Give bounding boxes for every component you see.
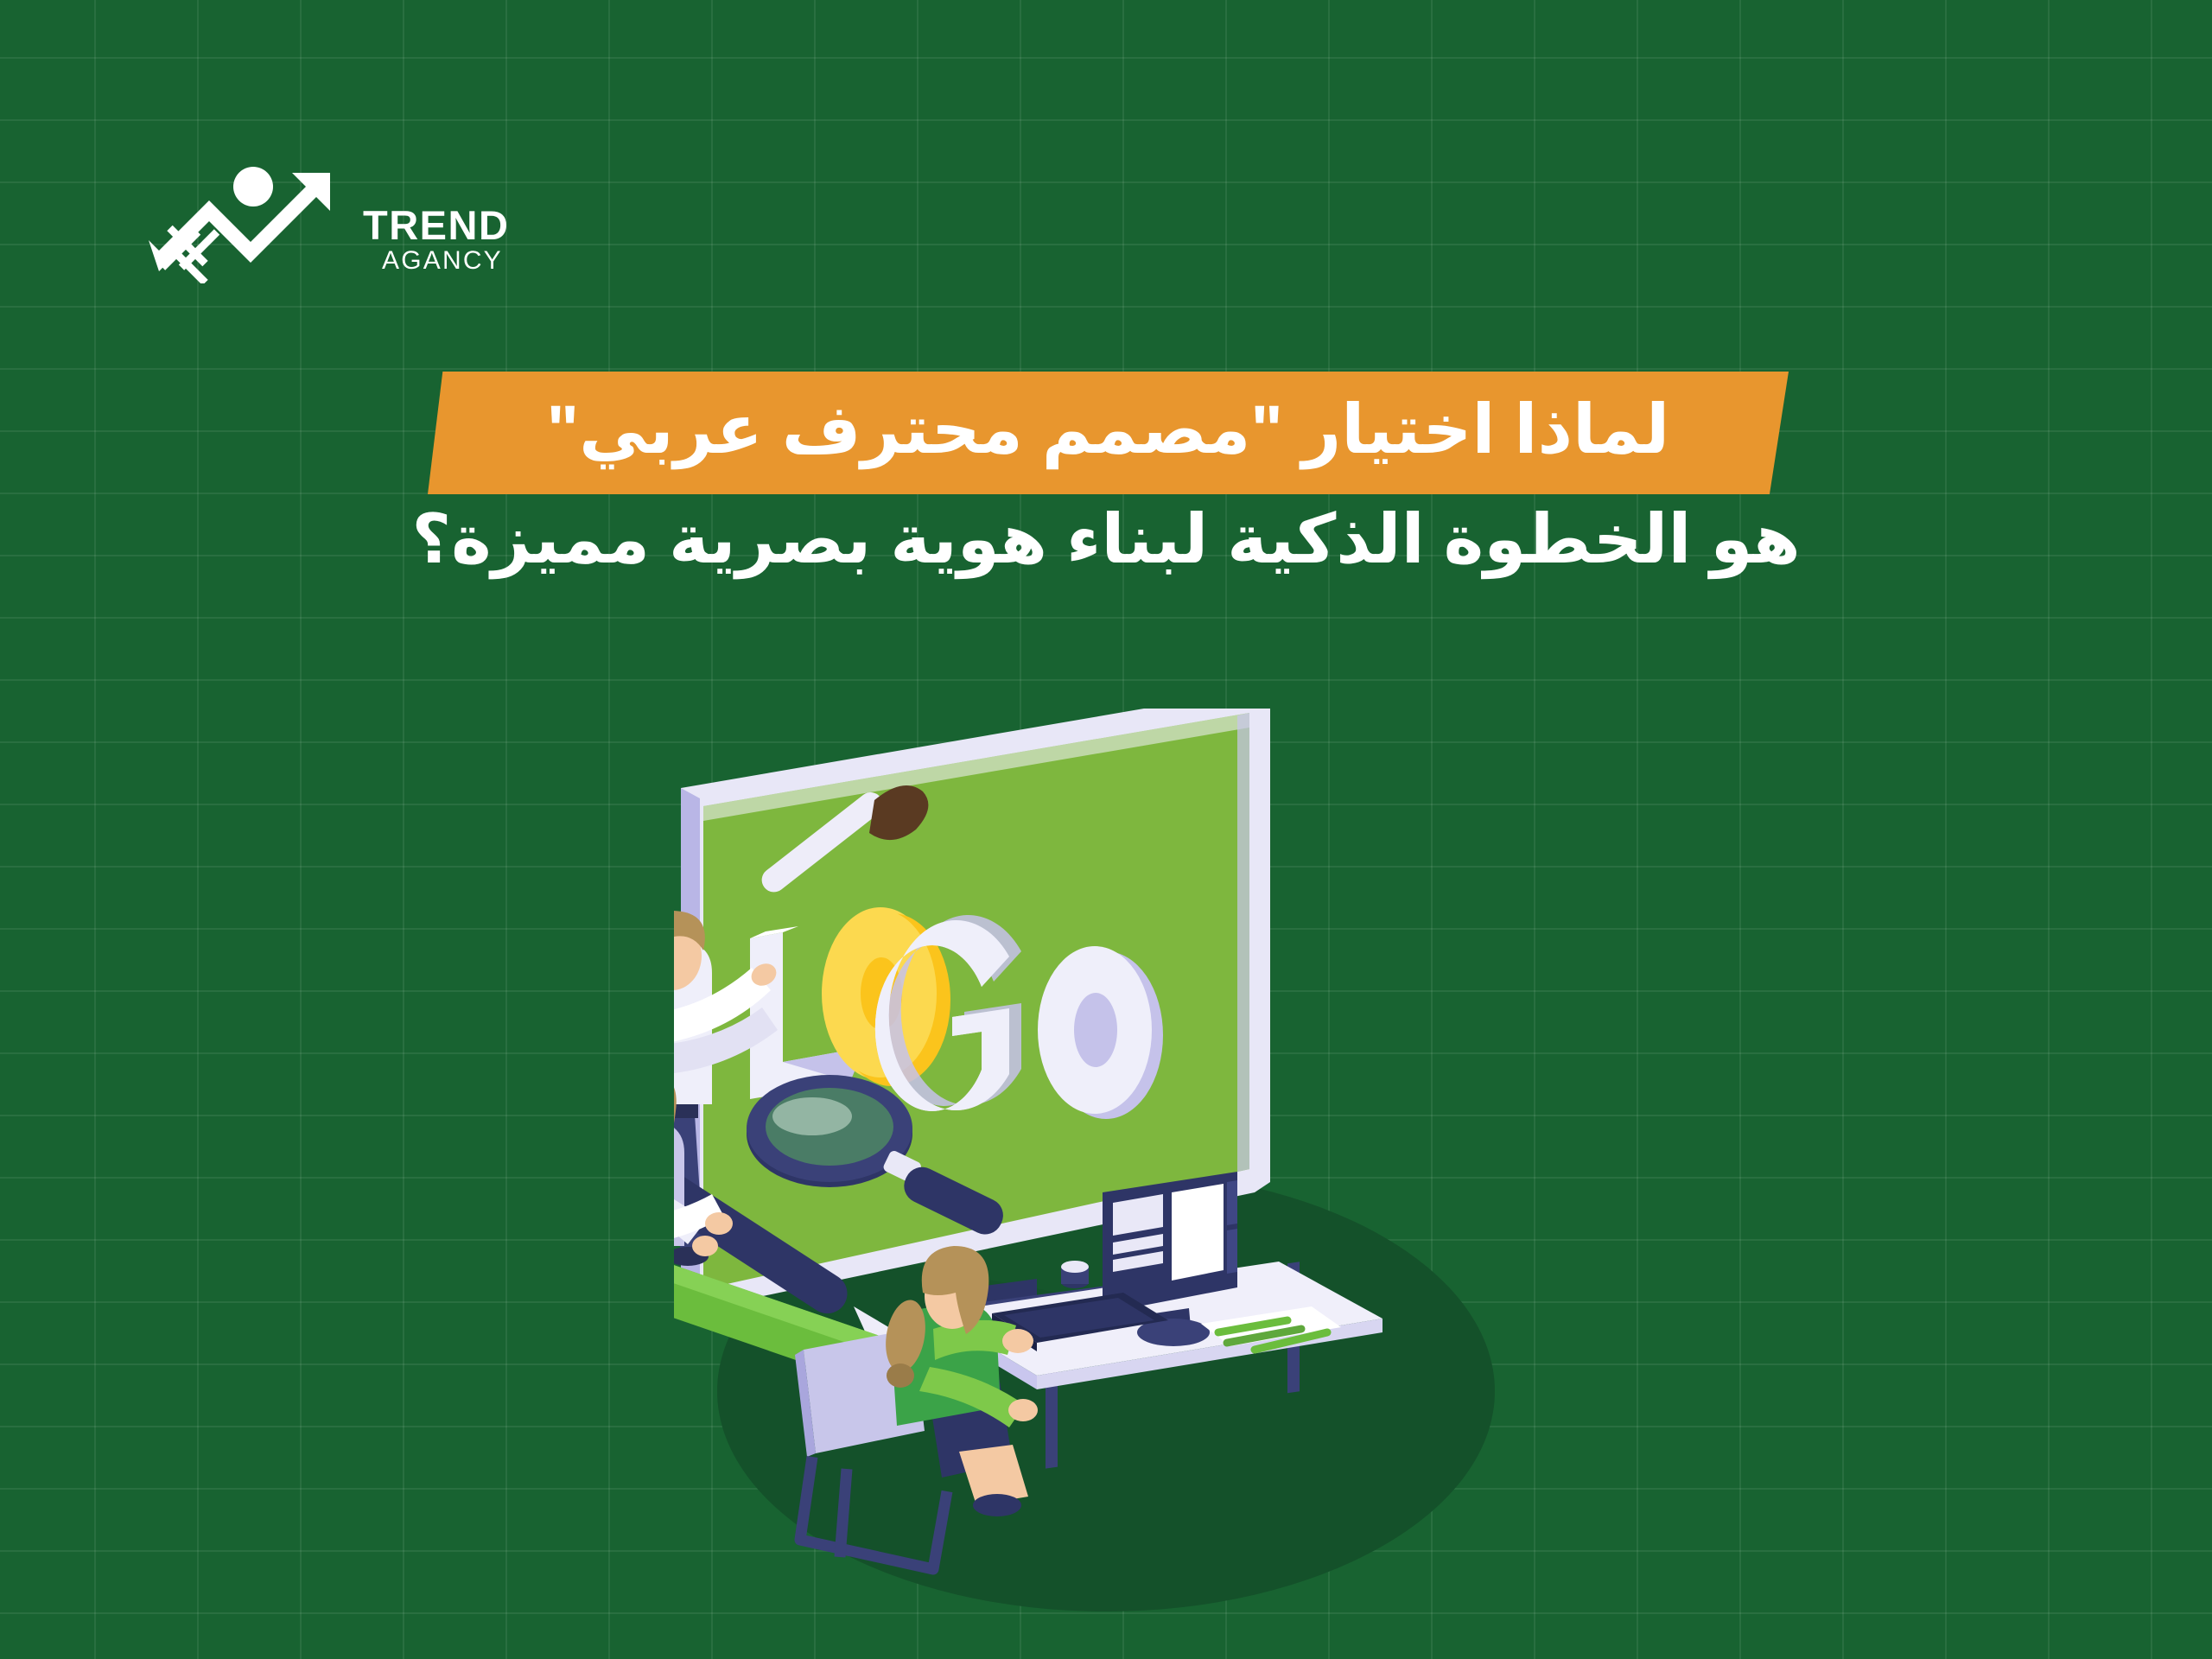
brand-name-main: TREND [363,206,509,245]
poster-canvas: TREND AGANCY لماذا اختيار "مصمم محترف عر… [0,0,2212,1659]
headline-line-1: لماذا اختيار "مصمم محترف عربي" [428,372,1789,494]
brand-wordmark: TREND AGANCY [363,206,509,277]
coffee-cup [1061,1261,1089,1288]
brand-name-sub: AGANCY [363,245,509,277]
headline-highlight-banner: لماذا اختيار "مصمم محترف عربي" [428,372,1789,494]
headline-line-2: هو الخطوة الذكية لبناء هوية بصرية مميزة؟ [0,499,2212,579]
isometric-logo-design-illustration [674,709,1555,1642]
brand-logo[interactable]: TREND AGANCY [145,145,525,292]
upward-trend-arrow-icon [145,145,361,288]
